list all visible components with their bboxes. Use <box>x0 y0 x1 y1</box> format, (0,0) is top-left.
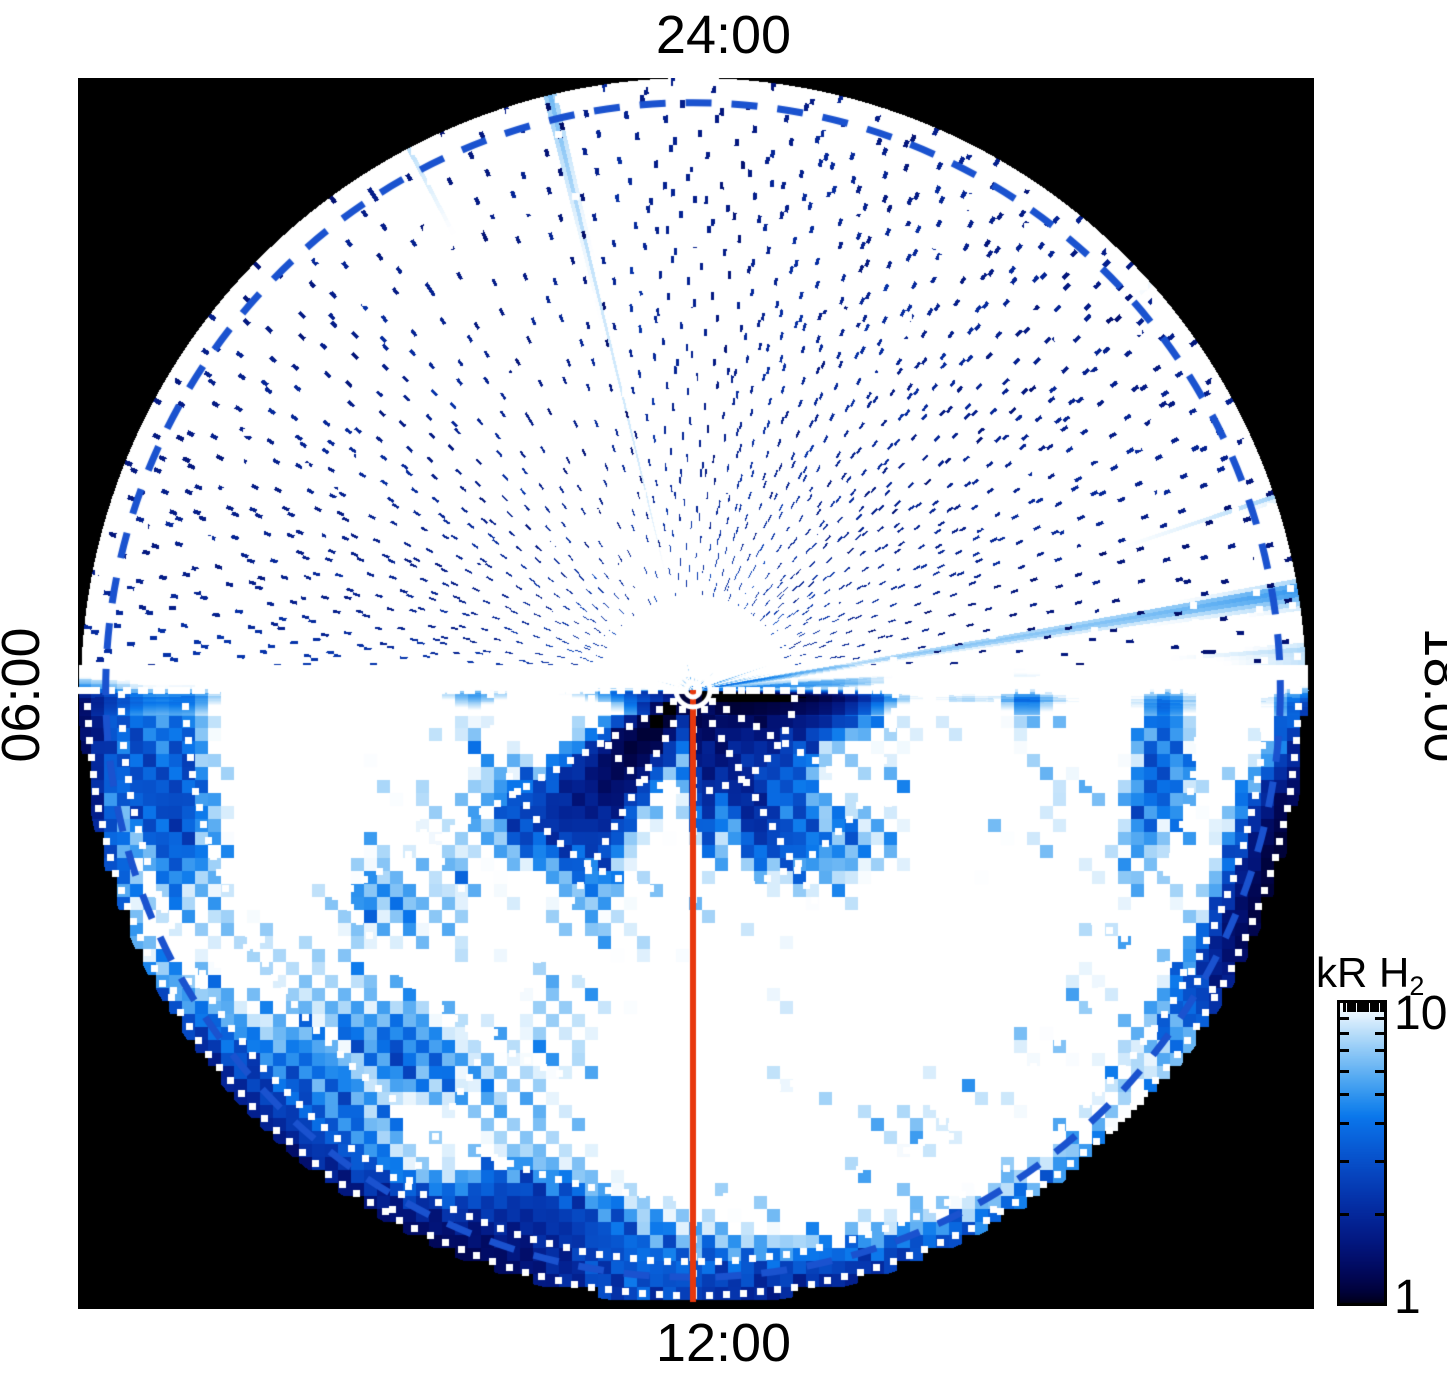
colorbar-minor-tick <box>1375 1213 1384 1216</box>
colorbar-minor-tick <box>1375 1093 1384 1096</box>
colorbar-minor-tick <box>1375 1070 1384 1073</box>
colorbar-minor-tick <box>1340 1032 1349 1035</box>
colorbar-frame <box>1337 1000 1387 1306</box>
colorbar-minor-tick <box>1340 1093 1349 1096</box>
colorbar-minor-tick <box>1375 1049 1384 1052</box>
colorbar-minor-tick <box>1340 1213 1349 1216</box>
local-time-label-dawn: 06:00 <box>0 570 48 820</box>
colorbar-top-hatch <box>1383 1003 1386 1012</box>
colorbar-top-hatch <box>1366 1003 1369 1012</box>
colorbar-minor-ticks-left <box>1340 1003 1349 1303</box>
colorbar-min-label: 1 <box>1394 1274 1421 1322</box>
colorbar-top-hatch <box>1353 1003 1356 1012</box>
colorbar-minor-tick <box>1375 1032 1384 1035</box>
colorbar-minor-tick <box>1340 1049 1349 1052</box>
auroral-polar-map-figure: 24:00 12:00 06:00 18:00 kR H2 10 1 <box>0 0 1447 1384</box>
colorbar-top-hatch <box>1376 1003 1379 1012</box>
auroral-emission-heatmap-canvas <box>78 78 1314 1309</box>
colorbar-max-label: 10 <box>1394 990 1447 1038</box>
local-time-label-midnight: 24:00 <box>0 8 1447 62</box>
local-time-label-dusk: 18:00 <box>1416 570 1447 820</box>
colorbar-minor-tick <box>1375 1160 1384 1163</box>
colorbar-minor-tick <box>1340 1160 1349 1163</box>
polar-plot-panel <box>78 78 1314 1309</box>
colorbar-minor-ticks-right <box>1375 1003 1384 1303</box>
colorbar-minor-tick <box>1340 1070 1349 1073</box>
colorbar-minor-tick <box>1375 1017 1384 1020</box>
colorbar-minor-tick <box>1340 1017 1349 1020</box>
local-time-label-noon: 12:00 <box>0 1316 1447 1370</box>
colorbar-minor-tick <box>1340 1122 1349 1125</box>
colorbar-minor-tick <box>1375 1122 1384 1125</box>
colorbar-top-hatch <box>1343 1003 1346 1012</box>
